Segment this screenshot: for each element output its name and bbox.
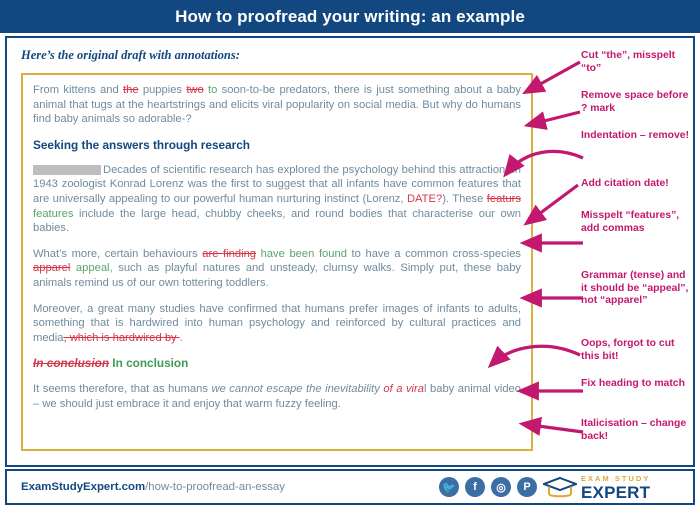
p1-deletion-the: the	[123, 84, 139, 96]
logo-line-1: EXAM STUDY	[581, 475, 650, 482]
footer-bar: ExamStudyExpert.com/how-to-proofread-an-…	[5, 469, 695, 505]
draft-document-box: From kittens and the puppies two to soon…	[21, 73, 533, 451]
annotation-cut-the: Cut “the”, misspelt “to”	[581, 50, 693, 75]
footer-url-path: /how-to-proofread-an-essay	[145, 481, 285, 493]
logo-line-2: EXPERT	[581, 484, 650, 501]
p3-deletion-are-finding: are finding	[202, 248, 256, 260]
p4-deletion-hardwired: , which is hardwired by	[63, 332, 179, 344]
p5-italic-run: we cannot escape the inevitability	[211, 383, 383, 395]
p1-insertion-to: to	[204, 84, 218, 96]
facebook-icon[interactable]: f	[465, 477, 485, 497]
annotation-add-citation: Add citation date!	[581, 178, 693, 191]
social-icons: 🐦 f ◎ P	[439, 477, 537, 497]
p3-deletion-apparel: apparel	[33, 262, 70, 274]
logo-text: EXAM STUDY EXPERT	[581, 475, 650, 500]
annotation-remove-space: Remove space before ? mark	[581, 90, 693, 115]
instagram-icon[interactable]: ◎	[491, 477, 511, 497]
p3-insertion-appeal: appeal,	[70, 262, 112, 274]
section-heading: Seeking the answers through research	[33, 138, 521, 153]
annotation-indentation: Indentation – remove!	[581, 130, 693, 143]
brand-logo: EXAM STUDY EXPERT	[543, 474, 681, 502]
p2-insertion-features: features	[33, 208, 73, 220]
annotation-fix-heading: Fix heading to match	[581, 378, 693, 391]
conclusion-heading: In conclusion In conclusion	[33, 356, 521, 370]
pinterest-icon[interactable]: P	[517, 477, 537, 497]
p5-seg1: It seems therefore, that as humans	[33, 383, 211, 395]
twitter-icon[interactable]: 🐦	[439, 477, 459, 497]
p2-date-query: DATE?	[407, 193, 442, 205]
paragraph-1: From kittens and the puppies two to soon…	[33, 83, 521, 127]
annotation-column: Cut “the”, misspelt “to” Remove space be…	[573, 38, 693, 465]
p3-seg1: What’s more, certain behaviours	[33, 248, 202, 260]
paragraph-3: What’s more, certain behaviours are find…	[33, 247, 521, 291]
annotation-forgot-cut: Oops, forgot to cut this bit!	[581, 338, 693, 363]
p5-italic-red-run: of a vira	[383, 383, 424, 395]
conclusion-deletion: In conclusion	[33, 356, 109, 370]
p4-seg2: .	[180, 332, 183, 344]
footer-url[interactable]: ExamStudyExpert.com/how-to-proofread-an-…	[21, 481, 285, 493]
p1-deletion-two: two	[186, 84, 203, 96]
p1-seg1: From kittens and	[33, 84, 123, 96]
p3-insertion-have-been-found: have been found	[256, 248, 347, 260]
intro-caption: Here’s the original draft with annotatio…	[21, 48, 240, 63]
p2-deletion-featurs: featurs	[487, 193, 521, 205]
annotation-misspelt-features: Misspelt “features”, add commas	[581, 210, 693, 235]
paragraph-4: Moreover, a great many studies have conf…	[33, 302, 521, 346]
footer-url-brand: ExamStudyExpert.com	[21, 481, 145, 493]
graduation-cap-icon	[543, 476, 577, 500]
p1-seg2: puppies	[139, 84, 187, 96]
conclusion-insertion: In conclusion	[109, 356, 188, 370]
p3-seg2: to have a common cross-species	[347, 248, 521, 260]
paragraph-2: Decades of scientific research has explo…	[33, 163, 521, 236]
p2-seg3: include the large head, chubby cheeks, a…	[33, 208, 521, 235]
content-frame: Here’s the original draft with annotatio…	[5, 36, 695, 467]
paragraph-5: It seems therefore, that as humans we ca…	[33, 382, 521, 411]
title-bar: How to proofread your writing: an exampl…	[0, 0, 700, 33]
annotation-italicisation: Italicisation – change back!	[581, 418, 693, 443]
infographic-page: How to proofread your writing: an exampl…	[0, 0, 700, 509]
p2-seg2: ). These	[442, 193, 487, 205]
page-title: How to proofread your writing: an exampl…	[175, 7, 525, 27]
document-column: Here’s the original draft with annotatio…	[7, 38, 569, 465]
indentation-marker	[33, 165, 101, 175]
annotation-grammar-tense: Grammar (tense) and it should be “appeal…	[581, 270, 693, 308]
